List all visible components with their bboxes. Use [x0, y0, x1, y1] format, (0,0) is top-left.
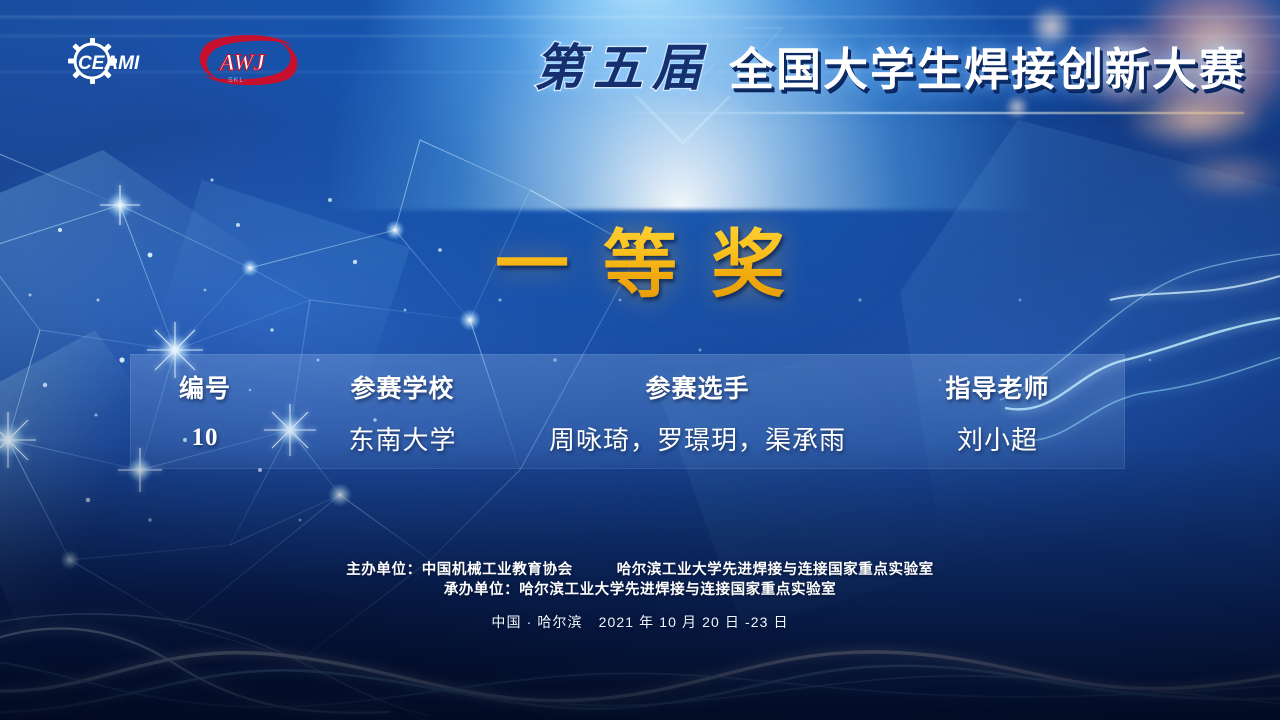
column-header-number: 编号	[130, 369, 280, 405]
cell-players: 周咏琦，罗璟玥，渠承雨	[525, 420, 870, 457]
footer-host-label: 主办单位：	[346, 562, 422, 578]
footer-organizer-line: 承办单位：哈尔滨工业大学先进焊接与连接国家重点实验室	[0, 580, 1280, 600]
column-header-school: 参赛学校	[280, 369, 525, 405]
footer-date-line: 中国 · 哈尔滨2021 年 10 月 20 日 -23 日	[0, 612, 1280, 632]
ceami-logo-text: CEAMI	[78, 53, 140, 74]
cell-teacher-value: 刘小超	[957, 426, 1038, 455]
column-header-school-label: 参赛学校	[350, 375, 454, 403]
cell-players-value: 周咏琦，罗璟玥，渠承雨	[549, 426, 846, 455]
column-header-number-label: 编号	[179, 375, 231, 403]
footer-location: 中国 · 哈尔滨	[491, 614, 582, 630]
award-title: 一等奖	[0, 205, 1280, 312]
event-title: 第五届 全国大学生焊接创新大赛	[534, 28, 1246, 100]
cell-teacher: 刘小超	[870, 420, 1125, 457]
event-title-main: 全国大学生焊接创新大赛	[729, 33, 1246, 98]
footer-organizer-org: 哈尔滨工业大学先进焊接与连接国家重点实验室	[519, 582, 836, 598]
column-header-players-label: 参赛选手	[645, 375, 749, 403]
awj-swoosh-icon: AWJ SKL	[194, 34, 302, 88]
ceami-gear-icon: CEAMI	[56, 35, 160, 87]
logo-group: CEAMI AWJ SKL	[56, 34, 302, 88]
table-row: 10 东南大学 周咏琦，罗璟玥，渠承雨 刘小超	[130, 412, 1125, 464]
footer-date: 2021 年 10 月 20 日 -23 日	[599, 614, 789, 630]
cell-number: 10	[130, 424, 280, 452]
cell-number-value: 10	[192, 424, 219, 451]
footer-host-line: 主办单位：中国机械工业教育协会哈尔滨工业大学先进焊接与连接国家重点实验室	[0, 560, 1280, 580]
results-panel: 编号 参赛学校 参赛选手 指导老师 10 东南大学 周咏琦，罗璟玥，渠承雨	[130, 354, 1125, 469]
awj-logo-subtext: SKL	[228, 77, 244, 84]
award-slide: CEAMI AWJ SKL 第五届 全国大学生焊接创新大赛 一等奖 编号 参赛学…	[0, 0, 1280, 720]
welding-spark-glow	[1170, 150, 1280, 200]
cell-school-value: 东南大学	[348, 426, 456, 455]
awj-logo: AWJ SKL	[194, 34, 302, 88]
column-header-teacher: 指导老师	[870, 369, 1125, 405]
footer-organizer-label: 承办单位：	[444, 582, 520, 598]
footer: 主办单位：中国机械工业教育协会哈尔滨工业大学先进焊接与连接国家重点实验室 承办单…	[0, 560, 1280, 632]
title-underline	[604, 112, 1244, 114]
awj-logo-text: AWJ	[218, 50, 267, 75]
cell-school: 东南大学	[280, 420, 525, 457]
footer-host-org-1: 中国机械工业教育协会	[422, 562, 573, 578]
column-header-teacher-label: 指导老师	[945, 375, 1049, 403]
footer-host-org-2: 哈尔滨工业大学先进焊接与连接国家重点实验室	[617, 562, 934, 578]
event-title-edition: 第五届	[534, 28, 711, 100]
table-header-row: 编号 参赛学校 参赛选手 指导老师	[130, 362, 1125, 412]
column-header-players: 参赛选手	[525, 369, 870, 405]
ceami-logo: CEAMI	[56, 35, 160, 87]
